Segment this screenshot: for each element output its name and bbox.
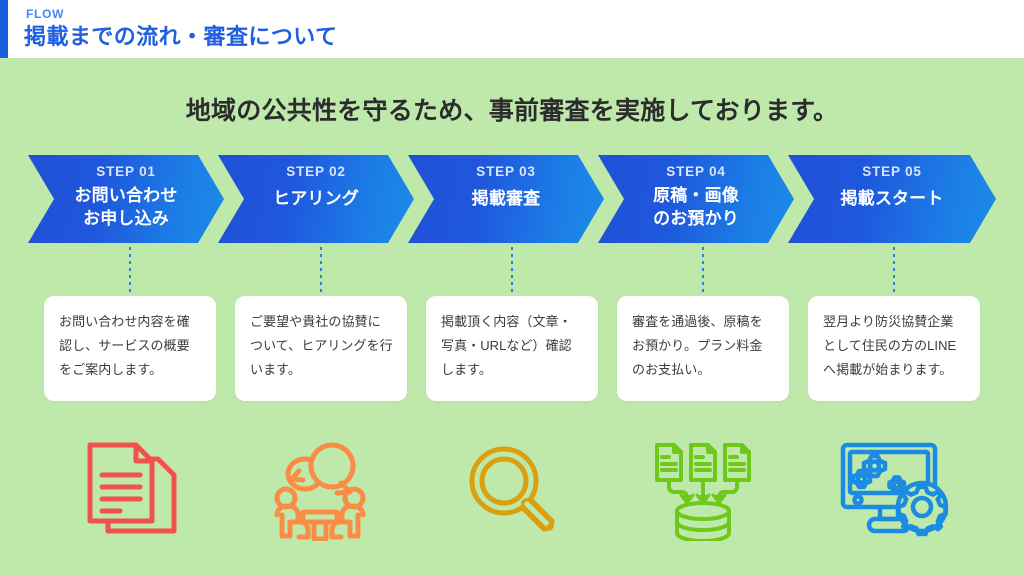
step-card-2: ご要望や貴社の協賛について、ヒアリングを行います。 xyxy=(235,296,407,401)
connector-line-3 xyxy=(511,247,513,295)
headline-text: 地域の公共性を守るため、事前審査を実施しております。 xyxy=(0,94,1024,128)
step-title-5-line1: 掲載スタート xyxy=(788,187,996,210)
step-card-4-text: 審査を通過後、原稿をお預かり。プラン料金のお支払い。 xyxy=(632,314,763,377)
step-arrow-3[interactable]: STEP 03 掲載審査 xyxy=(408,155,604,243)
step-arrow-row: STEP 01 お問い合わせ お申し込み STEP 02 ヒアリング STEP … xyxy=(0,155,1024,243)
step-arrow-4[interactable]: STEP 04 原稿・画像 のお預かり xyxy=(598,155,794,243)
icon-slot-1 xyxy=(70,428,190,550)
step-card-3-text: 掲載頂く内容（文章・写真・URLなど）確認します。 xyxy=(441,314,572,377)
flow-slide: FLOW 掲載までの流れ・審査について 地域の公共性を守るため、事前審査を実施し… xyxy=(0,0,1024,576)
step-title-4-line2: のお預かり xyxy=(598,207,794,230)
icon-slot-5 xyxy=(834,428,954,550)
step-label-2: STEP 02 xyxy=(218,164,414,180)
step-label-5: STEP 05 xyxy=(788,164,996,180)
step-title-3-line1: 掲載審査 xyxy=(408,187,604,210)
header-eyebrow: FLOW xyxy=(26,7,64,21)
step-label-4: STEP 04 xyxy=(598,164,794,180)
connector-line-4 xyxy=(702,247,704,295)
step-title-1-line2: お申し込み xyxy=(28,207,224,230)
step-title-2-line1: ヒアリング xyxy=(218,187,414,210)
step-label-3: STEP 03 xyxy=(408,164,604,180)
icon-slot-3 xyxy=(452,428,572,550)
page-title: 掲載までの流れ・審査について xyxy=(24,23,338,51)
step-card-1-text: お問い合わせ内容を確認し、サービスの概要をご案内します。 xyxy=(59,314,190,377)
monitor-gears-icon xyxy=(836,437,952,541)
step-card-3: 掲載頂く内容（文章・写真・URLなど）確認します。 xyxy=(426,296,598,401)
documents-to-database-icon xyxy=(651,437,755,541)
step-arrow-2[interactable]: STEP 02 ヒアリング xyxy=(218,155,414,243)
step-title-4-line1: 原稿・画像 xyxy=(598,184,794,207)
connector-line-5 xyxy=(893,247,895,295)
meeting-people-icon xyxy=(269,437,373,541)
step-title-1-line1: お問い合わせ xyxy=(28,184,224,207)
step-card-5: 翌月より防災協賛企業として住民の方のLINEへ掲載が始まります。 xyxy=(808,296,980,401)
documents-icon xyxy=(80,437,180,541)
step-card-4: 審査を通過後、原稿をお預かり。プラン料金のお支払い。 xyxy=(617,296,789,401)
header-bar: FLOW 掲載までの流れ・審査について xyxy=(0,0,1024,58)
step-arrow-1[interactable]: STEP 01 お問い合わせ お申し込み xyxy=(28,155,224,243)
header-accent-bar xyxy=(0,0,8,58)
step-card-2-text: ご要望や貴社の協賛について、ヒアリングを行います。 xyxy=(250,314,393,377)
step-card-1: お問い合わせ内容を確認し、サービスの概要をご案内します。 xyxy=(44,296,216,401)
icon-slot-2 xyxy=(261,428,381,550)
connector-line-2 xyxy=(320,247,322,295)
step-arrow-5[interactable]: STEP 05 掲載スタート xyxy=(788,155,996,243)
connector-line-1 xyxy=(129,247,131,295)
step-card-5-text: 翌月より防災協賛企業として住民の方のLINEへ掲載が始まります。 xyxy=(823,314,956,377)
step-label-1: STEP 01 xyxy=(28,164,224,180)
icon-slot-4 xyxy=(643,428,763,550)
magnifier-icon xyxy=(460,437,564,541)
